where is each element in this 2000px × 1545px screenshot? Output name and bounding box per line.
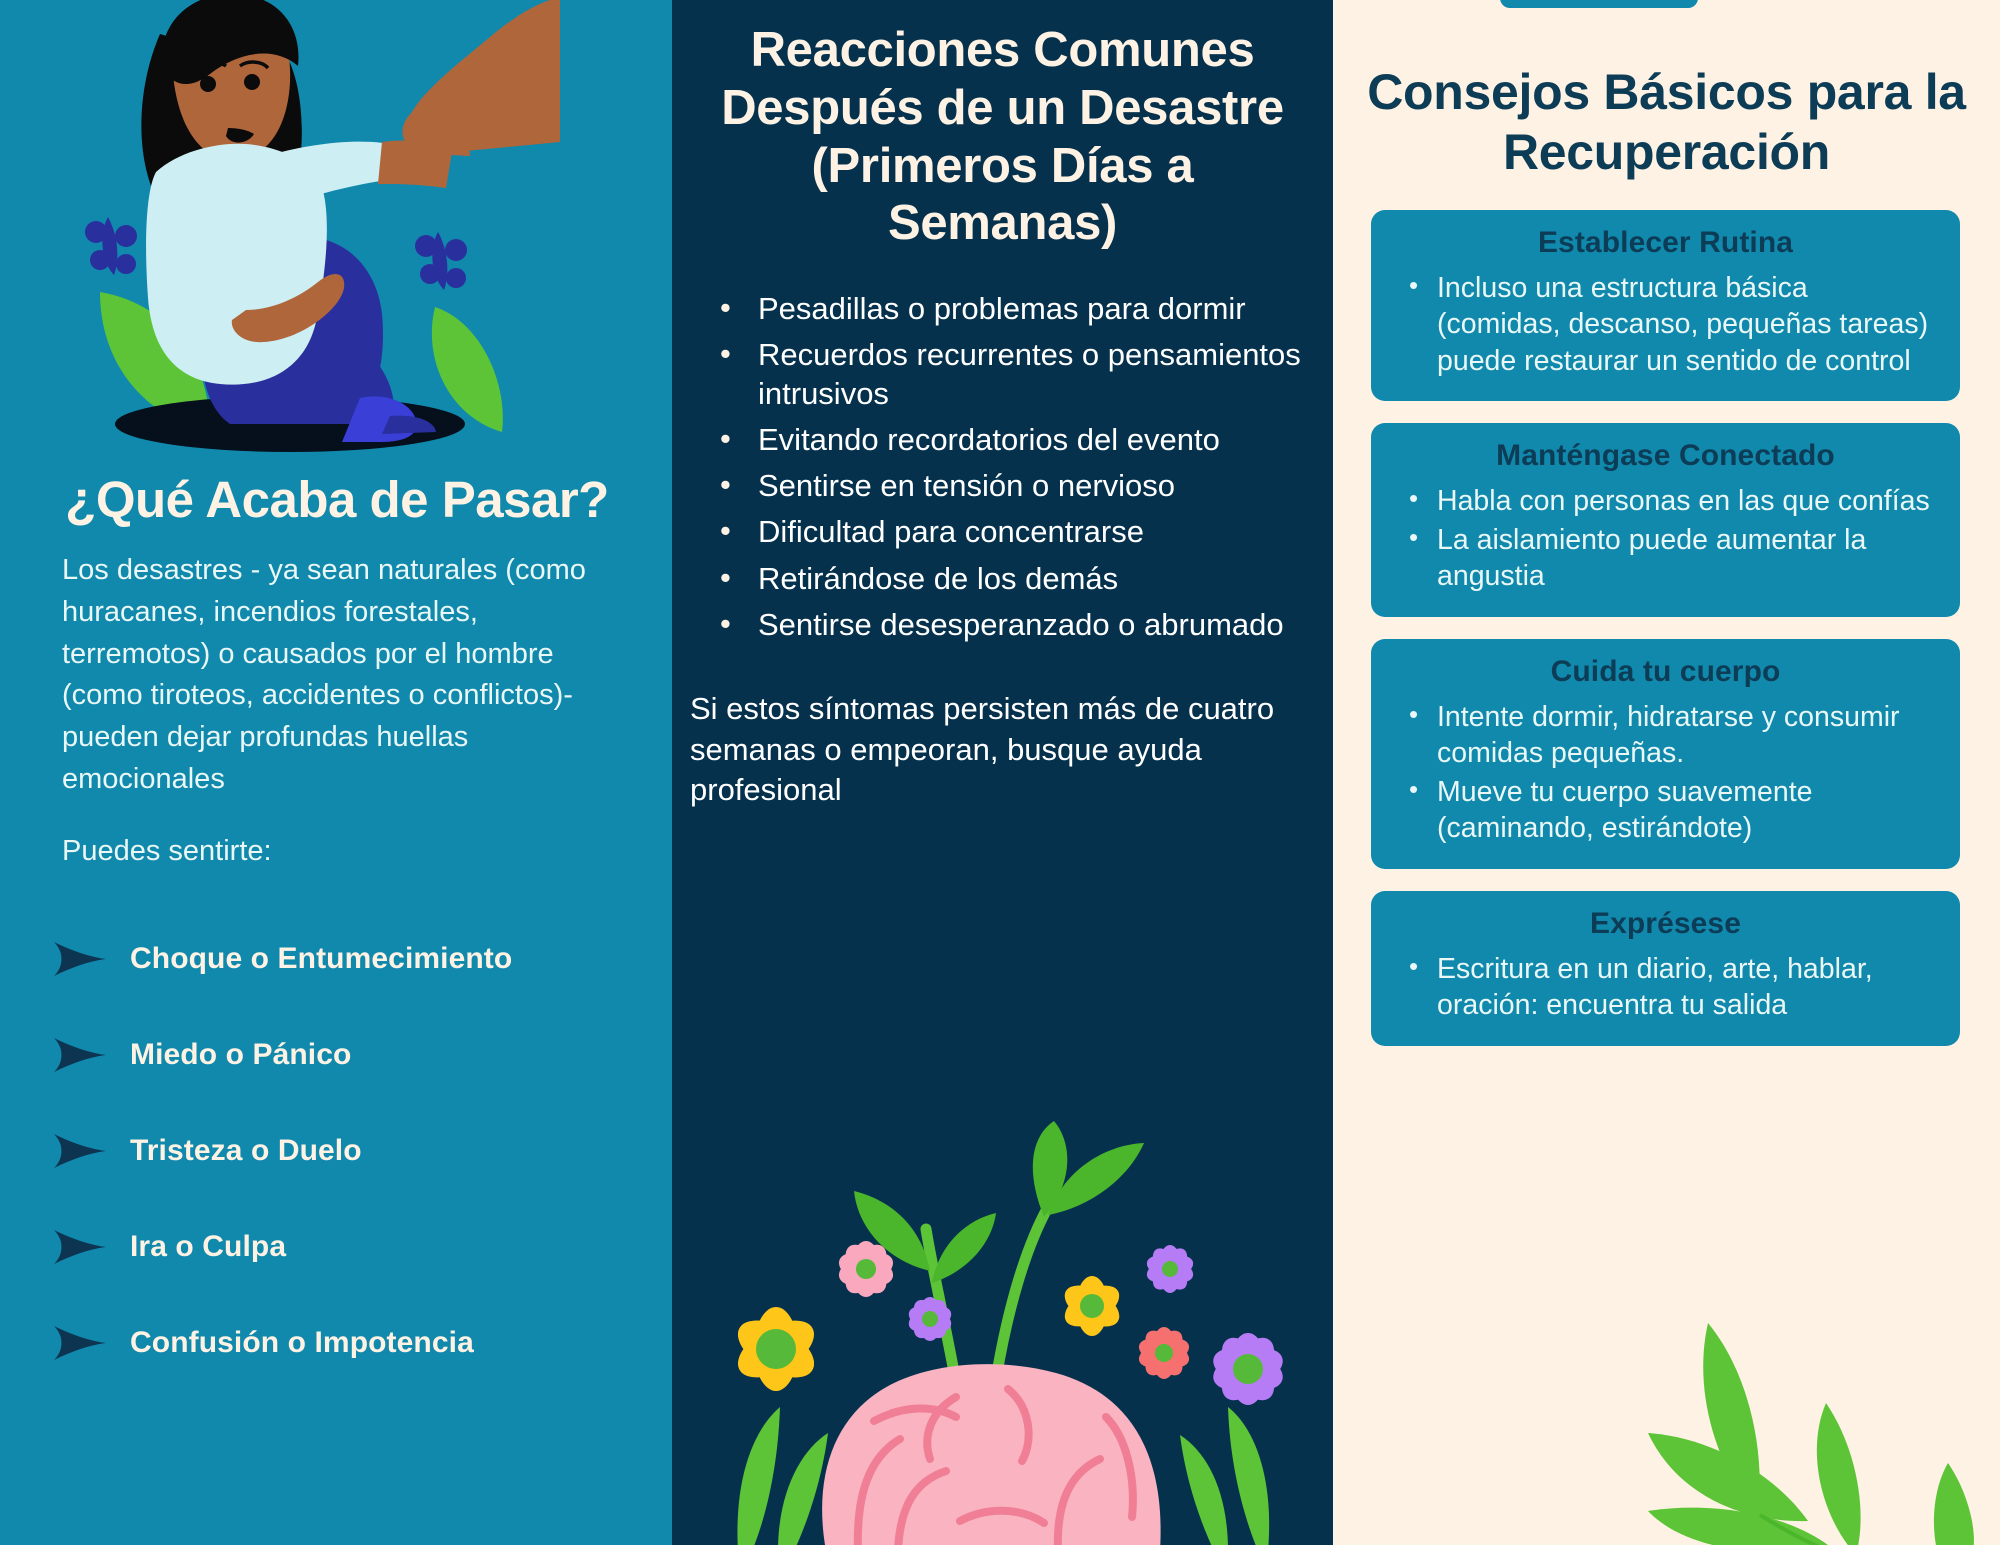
feelings-list: Choque o Entumecimiento Miedo o Pánico T…: [62, 911, 612, 1391]
list-item: Miedo o Pánico: [62, 1007, 612, 1103]
flower-yellow-large: [729, 1307, 824, 1391]
list-item: Incluso una estructura básica (comidas, …: [1393, 270, 1938, 379]
feeling-label: Ira o Culpa: [130, 1230, 286, 1264]
arrow-right-icon: [52, 939, 108, 979]
arrow-right-icon: [52, 1323, 108, 1363]
list-item: Sentirse en tensión o nervioso: [706, 466, 1305, 505]
feeling-label: Confusión o Impotencia: [130, 1326, 474, 1360]
arrow-right-icon: [52, 1035, 108, 1075]
tip-card-mantengase-conectado: Manténgase Conectado Habla con personas …: [1371, 423, 1960, 616]
list-item: Recuerdos recurrentes o pensamientos int…: [706, 335, 1305, 413]
green-leaves-decoration-illustration: [1648, 1315, 2000, 1545]
infographic-page: ¿Qué Acaba de Pasar? Los desastres - ya …: [0, 0, 2000, 1545]
card-title: Manténgase Conectado: [1393, 439, 1938, 473]
right-title: Consejos Básicos para la Recuperación: [1333, 0, 2000, 182]
top-tab-decoration: [1500, 0, 1698, 8]
feeling-label: Choque o Entumecimiento: [130, 942, 512, 976]
tip-card-establecer-rutina: Establecer Rutina Incluso una estructura…: [1371, 210, 1960, 401]
card-title: Exprésese: [1393, 907, 1938, 941]
left-column: ¿Qué Acaba de Pasar? Los desastres - ya …: [0, 0, 672, 1545]
list-item: Tristeza o Duelo: [62, 1103, 612, 1199]
list-item: Dificultad para concentrarse: [706, 512, 1305, 551]
tip-card-expresese: Exprésese Escritura en un diario, arte, …: [1371, 891, 1960, 1046]
middle-column: Reacciones Comunes Después de un Desastr…: [672, 0, 1333, 1545]
list-item: Pesadillas o problemas para dormir: [706, 289, 1305, 328]
list-item: Mueve tu cuerpo suavemente (caminando, e…: [1393, 774, 1938, 847]
list-item: Escritura en un diario, arte, hablar, or…: [1393, 951, 1938, 1024]
list-item: Choque o Entumecimiento: [62, 911, 612, 1007]
tip-card-cuida-tu-cuerpo: Cuida tu cuerpo Intente dormir, hidratar…: [1371, 639, 1960, 869]
list-item: La aislamiento puede aumentar la angusti…: [1393, 522, 1938, 595]
list-item: Ira o Culpa: [62, 1199, 612, 1295]
list-item: Evitando recordatorios del evento: [706, 420, 1305, 459]
left-paragraph: Los desastres - ya sean naturales (como …: [62, 550, 612, 801]
left-subheading: Puedes sentirte:: [62, 831, 612, 872]
flower-yellow-mid: [1058, 1276, 1126, 1336]
brain-with-sprouting-plants-and-flowers-illustration: [708, 1121, 1308, 1545]
list-item: Intente dormir, hidratarse y consumir co…: [1393, 699, 1938, 772]
middle-note: Si estos síntomas persisten más de cuatr…: [672, 651, 1333, 812]
flower-coral-small: [1135, 1324, 1192, 1381]
feeling-label: Tristeza o Duelo: [130, 1134, 362, 1168]
card-bullet-list: Habla con personas en las que confías La…: [1393, 483, 1938, 594]
arrow-right-icon: [52, 1131, 108, 1171]
card-bullet-list: Incluso una estructura básica (comidas, …: [1393, 270, 1938, 379]
list-item: Retirándose de los demás: [706, 559, 1305, 598]
list-item: Habla con personas en las que confías: [1393, 483, 1938, 519]
card-bullet-list: Intente dormir, hidratarse y consumir co…: [1393, 699, 1938, 847]
arrow-right-icon: [52, 1227, 108, 1267]
flower-purple-tiny-right: [1143, 1243, 1196, 1296]
reactions-list: Pesadillas o problemas para dormir Recue…: [672, 289, 1333, 643]
left-title: ¿Qué Acaba de Pasar?: [62, 470, 612, 530]
left-text-block: ¿Qué Acaba de Pasar? Los desastres - ya …: [0, 470, 672, 1391]
card-bullet-list: Escritura en un diario, arte, hablar, or…: [1393, 951, 1938, 1024]
tips-card-list: Establecer Rutina Incluso una estructura…: [1333, 182, 2000, 1046]
list-item: Sentirse desesperanzado o abrumado: [706, 605, 1305, 644]
seated-woman-reaching-for-helping-hand-illustration: [60, 0, 560, 452]
right-column: Consejos Básicos para la Recuperación Es…: [1333, 0, 2000, 1545]
flower-purple-large: [1208, 1329, 1288, 1410]
list-item: Confusión o Impotencia: [62, 1295, 612, 1391]
card-title: Establecer Rutina: [1393, 226, 1938, 260]
feeling-label: Miedo o Pánico: [130, 1038, 351, 1072]
card-title: Cuida tu cuerpo: [1393, 655, 1938, 689]
middle-title: Reacciones Comunes Después de un Desastr…: [672, 0, 1333, 253]
